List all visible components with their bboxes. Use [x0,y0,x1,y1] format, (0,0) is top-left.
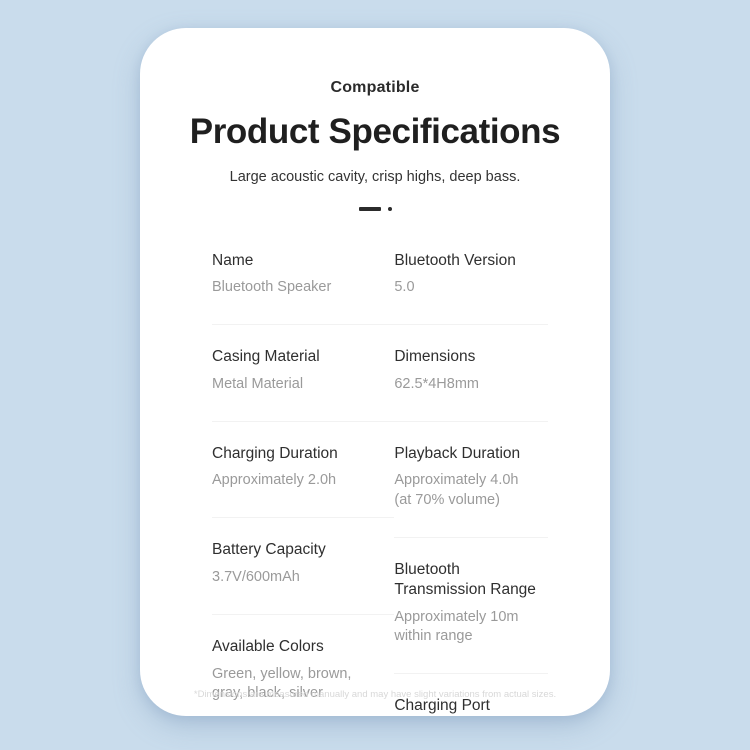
spec-label: Battery Capacity [212,540,394,560]
spec-item: Bluetooth Version 5.0 [394,251,548,326]
spec-label: Dimensions [394,347,548,367]
specifications-right-column: Bluetooth Version 5.0 Dimensions 62.5*4H… [394,251,548,716]
spec-label: Casing Material [212,347,394,367]
specifications-table: Name Bluetooth Speaker Casing Material M… [140,251,610,716]
spec-value: Approximately 2.0h [212,471,394,491]
spec-label: Name [212,251,394,271]
spec-item: Bluetooth Transmission Range Approximate… [394,560,548,674]
footnote: *Dimensions are measured manually and ma… [140,689,610,700]
page-title: Product Specifications [140,113,610,152]
spec-item: Casing Material Metal Material [212,347,394,422]
spec-value: 3.7V/600mAh [212,568,394,588]
screen: Compatible Product Specifications Large … [0,0,750,750]
subtitle: Large acoustic cavity, crisp highs, deep… [140,168,610,187]
spec-label: Bluetooth Version [394,251,548,271]
spec-item: Name Bluetooth Speaker [212,251,394,326]
divider-dash [359,207,381,211]
spec-value: 5.0 [394,278,548,298]
spec-value: Approximately 4.0h (at 70% volume) [394,471,548,510]
dash-dot-divider-icon [140,203,610,215]
spec-value: Approximately 10m within range [394,608,548,647]
spec-label: Charging Duration [212,444,394,464]
specifications-left-column: Name Bluetooth Speaker Casing Material M… [212,251,394,716]
product-specifications-card: Compatible Product Specifications Large … [140,28,610,716]
spec-item: Playback Duration Approximately 4.0h (at… [394,444,548,538]
spec-value: Metal Material [212,375,394,395]
spec-item: Dimensions 62.5*4H8mm [394,347,548,422]
spec-label: Bluetooth Transmission Range [394,560,548,600]
spec-label: Playback Duration [394,444,548,464]
spec-item: Charging Duration Approximately 2.0h [212,444,394,519]
spec-value: Bluetooth Speaker [212,278,394,298]
spec-item: Battery Capacity 3.7V/600mAh [212,540,394,615]
card-header: Compatible Product Specifications Large … [140,28,610,215]
spec-label: Available Colors [212,637,394,657]
spec-value: 62.5*4H8mm [394,375,548,395]
divider-dot [388,207,392,211]
eyebrow-label: Compatible [140,78,610,97]
